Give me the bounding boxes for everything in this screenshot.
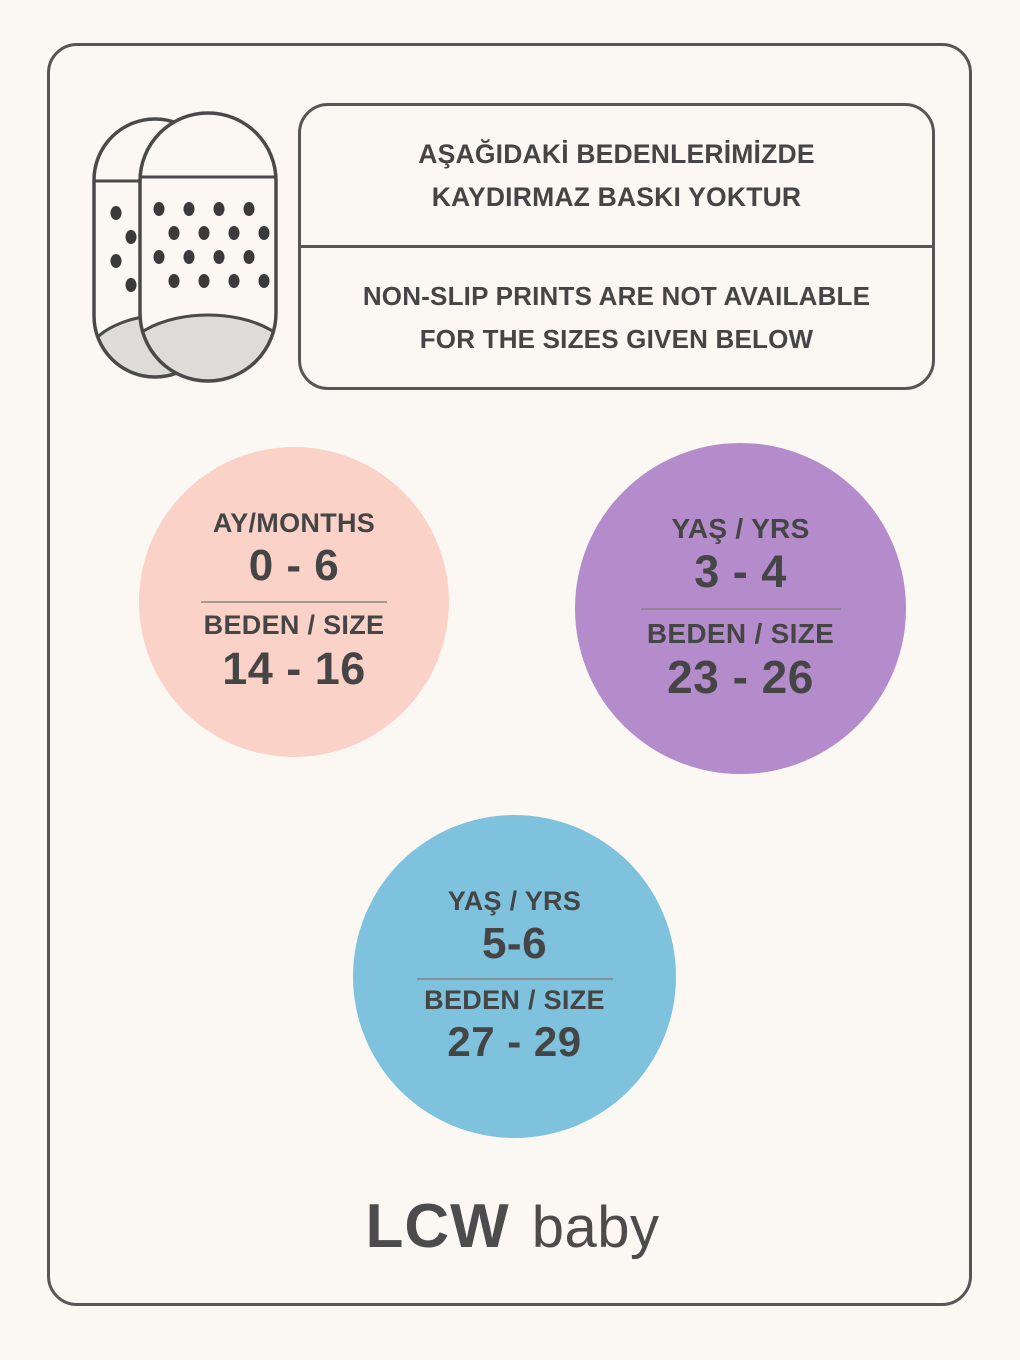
notice-english-line-1: NON-SLIP PRINTS ARE NOT AVAILABLE (363, 275, 870, 317)
size-value-blue: 27 - 29 (447, 1017, 581, 1067)
notice-english: NON-SLIP PRINTS ARE NOT AVAILABLE FOR TH… (301, 248, 932, 387)
size-label-pink: BEDEN / SIZE (204, 610, 385, 642)
size-label-blue: BEDEN / SIZE (424, 985, 605, 1017)
age-value-blue: 5-6 (482, 918, 547, 971)
age-label-pink: AY/MONTHS (213, 508, 375, 540)
size-circle-purple: YAŞ / YRS 3 - 4 BEDEN / SIZE 23 - 26 (575, 443, 906, 774)
notice-box: AŞAĞIDAKİ BEDENLERİMİZDE KAYDIRMAZ BASKI… (298, 103, 935, 390)
non-slip-socks-icon (88, 103, 288, 393)
size-label-purple: BEDEN / SIZE (647, 617, 834, 650)
brand-primary: LCW (366, 1192, 510, 1261)
circle-divider-pink (201, 601, 387, 603)
circle-divider-purple (641, 608, 841, 610)
header-row: AŞAĞIDAKİ BEDENLERİMİZDE KAYDIRMAZ BASKI… (50, 46, 975, 391)
size-value-pink: 14 - 16 (222, 642, 366, 696)
brand-secondary: baby (532, 1195, 660, 1260)
age-label-purple: YAŞ / YRS (671, 512, 809, 545)
size-circle-blue: YAŞ / YRS 5-6 BEDEN / SIZE 27 - 29 (353, 815, 676, 1138)
notice-turkish-line-2: KAYDIRMAZ BASKI YOKTUR (432, 176, 802, 219)
brand-logo: LCWbaby (50, 1191, 975, 1262)
notice-turkish: AŞAĞIDAKİ BEDENLERİMİZDE KAYDIRMAZ BASKI… (301, 106, 932, 248)
age-value-pink: 0 - 6 (249, 540, 340, 593)
size-value-purple: 23 - 26 (667, 650, 814, 705)
size-circle-pink: AY/MONTHS 0 - 6 BEDEN / SIZE 14 - 16 (139, 447, 449, 757)
age-value-purple: 3 - 4 (694, 545, 787, 599)
circle-divider-blue (417, 978, 613, 980)
notice-english-line-2: FOR THE SIZES GIVEN BELOW (420, 318, 814, 360)
age-label-blue: YAŞ / YRS (448, 886, 581, 918)
size-chart-card: AŞAĞIDAKİ BEDENLERİMİZDE KAYDIRMAZ BASKI… (47, 43, 972, 1306)
notice-turkish-line-1: AŞAĞIDAKİ BEDENLERİMİZDE (418, 133, 814, 176)
